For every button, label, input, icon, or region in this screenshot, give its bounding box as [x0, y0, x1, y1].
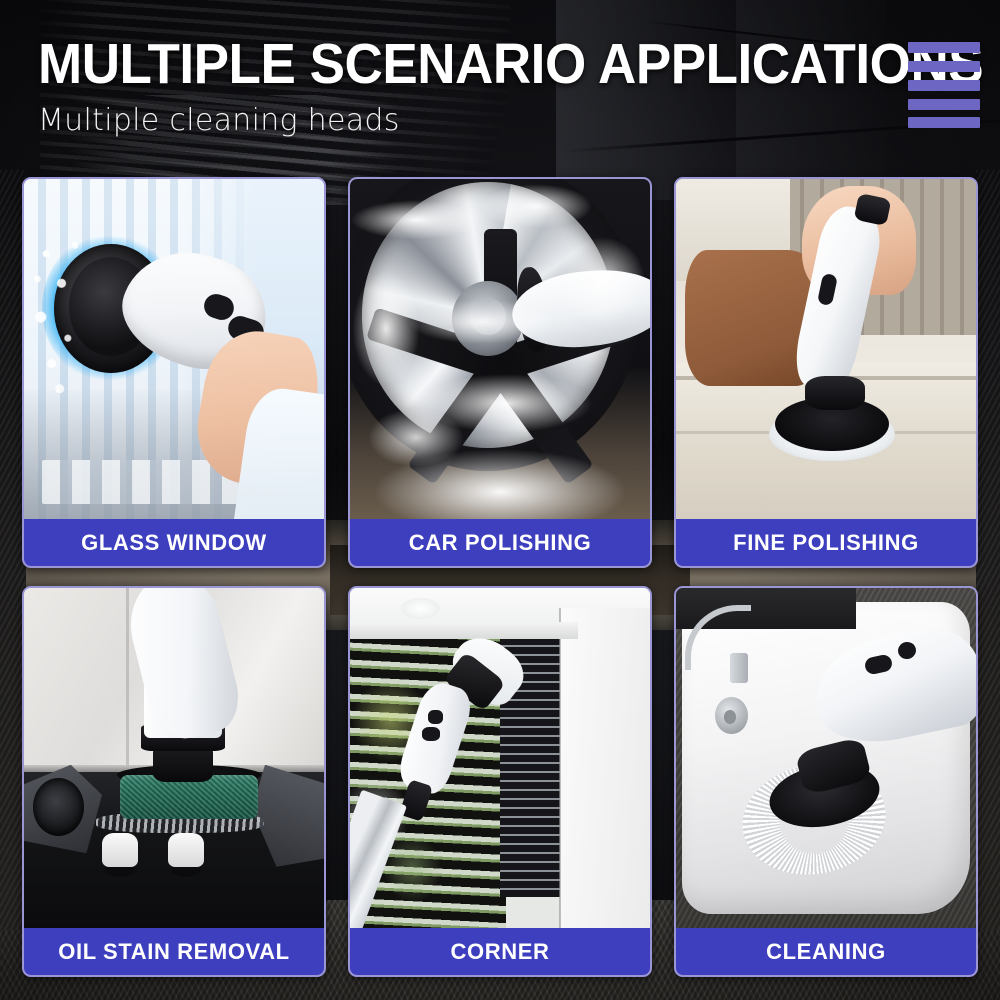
scenario-card-grid: GLASS WINDOW CAR POLISHING [22, 177, 978, 977]
scenario-label-text: GLASS WINDOW [81, 530, 267, 556]
decor-bar [908, 80, 980, 91]
scenario-label-bar: GLASS WINDOW [24, 519, 324, 566]
scenario-label-bar: CLEANING [676, 928, 976, 975]
header: MULTIPLE SCENARIO APPLICATIONS Multiple … [0, 0, 1000, 170]
scenario-label-bar: FINE POLISHING [676, 519, 976, 566]
scenario-label-text: CAR POLISHING [409, 530, 592, 556]
scenario-label-text: CLEANING [766, 939, 886, 965]
page-subtitle: Multiple cleaning heads [38, 106, 400, 136]
scenario-photo-oil-stain-removal [24, 588, 324, 928]
background-carpet-right [976, 170, 1000, 930]
stacked-bars-icon [908, 42, 980, 128]
scenario-card-oil-stain-removal[interactable]: OIL STAIN REMOVAL [22, 586, 326, 977]
scenario-label-bar: CAR POLISHING [350, 519, 650, 566]
scenario-card-car-polishing[interactable]: CAR POLISHING [348, 177, 652, 568]
scenario-photo-glass-window [24, 179, 324, 519]
scenario-label-text: FINE POLISHING [733, 530, 919, 556]
scenario-card-glass-window[interactable]: GLASS WINDOW [22, 177, 326, 568]
decor-bar [908, 61, 980, 72]
scenario-label-text: CORNER [451, 939, 550, 965]
scenario-photo-car-polishing [350, 179, 650, 519]
decor-bar [908, 117, 980, 128]
scenario-card-corner[interactable]: CORNER [348, 586, 652, 977]
product-feature-poster: MULTIPLE SCENARIO APPLICATIONS Multiple … [0, 0, 1000, 1000]
decor-bar [908, 99, 980, 110]
page-title: MULTIPLE SCENARIO APPLICATIONS [38, 36, 983, 93]
decor-bar [908, 42, 980, 53]
scenario-photo-cleaning [676, 588, 976, 928]
scenario-card-cleaning[interactable]: CLEANING [674, 586, 978, 977]
scenario-label-text: OIL STAIN REMOVAL [58, 939, 289, 965]
scenario-label-bar: OIL STAIN REMOVAL [24, 928, 324, 975]
scenario-label-bar: CORNER [350, 928, 650, 975]
scenario-card-fine-polishing[interactable]: FINE POLISHING [674, 177, 978, 568]
scenario-photo-fine-polishing [676, 179, 976, 519]
scenario-photo-corner [350, 588, 650, 928]
